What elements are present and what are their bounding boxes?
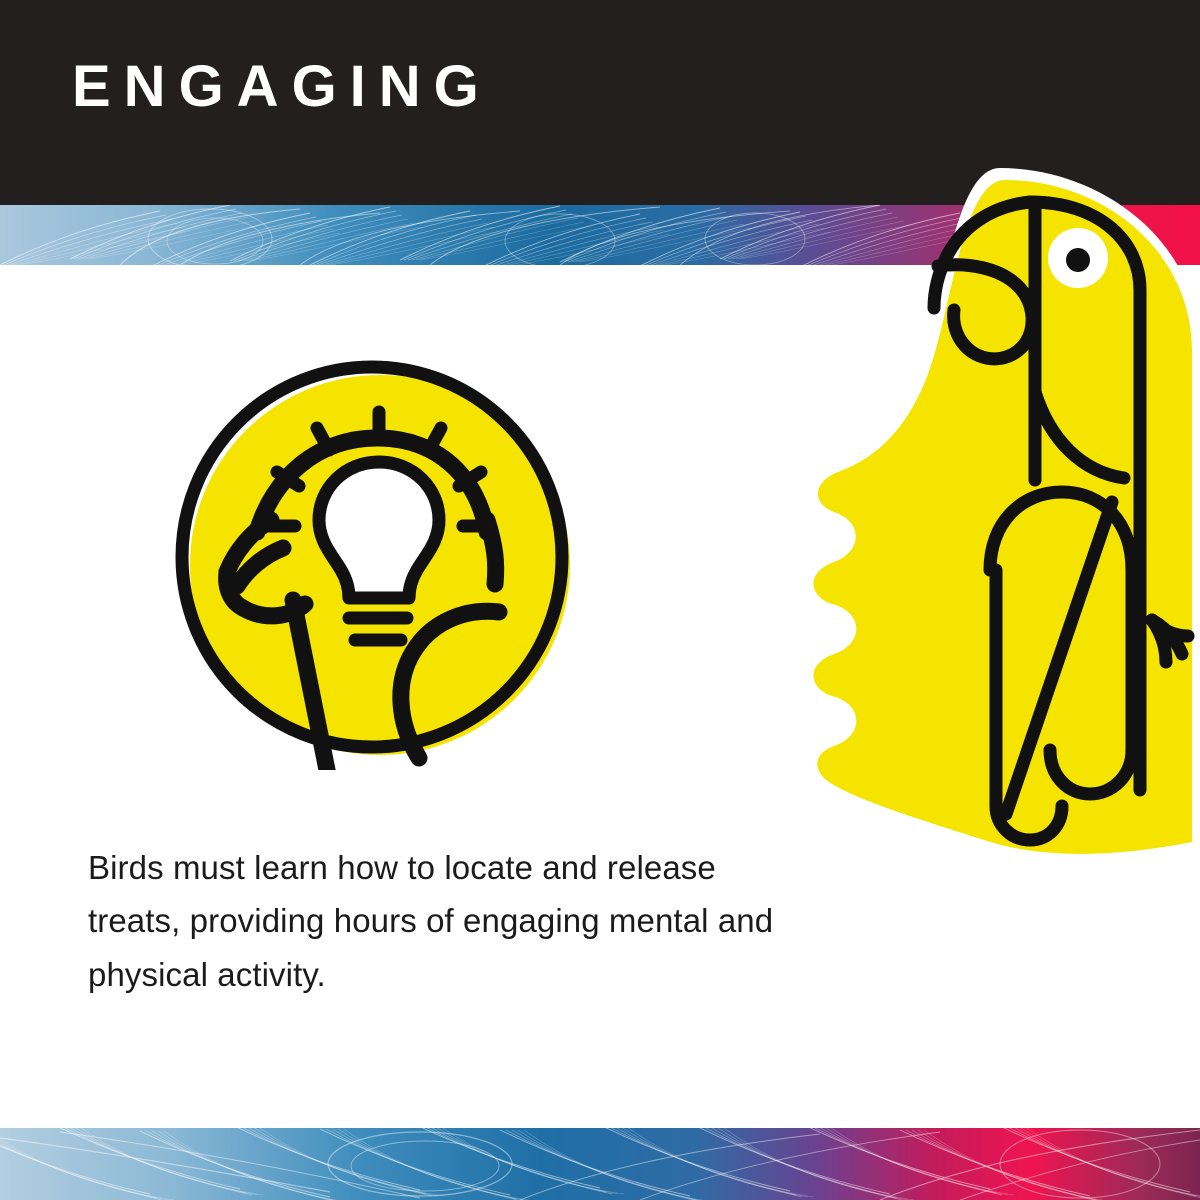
feather-band-bottom-graphic bbox=[0, 1128, 1200, 1200]
bird-idea-icon bbox=[165, 350, 585, 770]
poster-canvas: ENGAGING bbox=[0, 0, 1200, 1200]
parrot-illustration bbox=[700, 150, 1200, 880]
bird-idea-icon-graphic bbox=[165, 350, 585, 770]
parrot-eye bbox=[1048, 228, 1108, 288]
parrot-illustration-graphic bbox=[700, 150, 1200, 880]
feather-band-bottom bbox=[0, 1128, 1200, 1200]
body-paragraph: Birds must learn how to locate and relea… bbox=[88, 841, 800, 1001]
page-title: ENGAGING bbox=[72, 58, 492, 116]
